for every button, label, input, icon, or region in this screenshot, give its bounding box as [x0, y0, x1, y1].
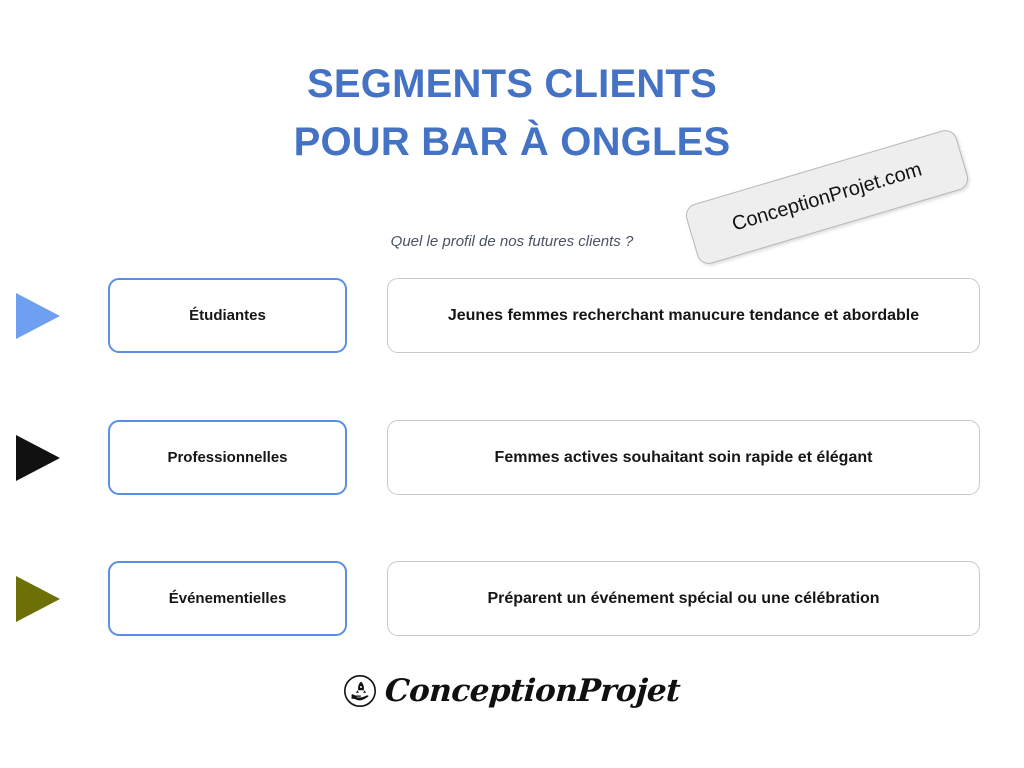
segment-box[interactable]: Étudiantes: [108, 278, 347, 353]
footer-brand-text: ConceptionProjet: [384, 674, 681, 708]
segment-box[interactable]: Professionnelles: [108, 420, 347, 495]
triangle-arrow-olive: [16, 576, 60, 622]
segment-description-label: Préparent un événement spécial ou une cé…: [473, 590, 893, 608]
segment-box[interactable]: Événementielles: [108, 561, 347, 636]
triangle-arrow-black: [16, 435, 60, 481]
subtitle: Quel le profil de nos futures clients ?: [0, 233, 1024, 250]
segment-row: Événementielles Préparent un événement s…: [0, 561, 1024, 637]
page-title-line-1: SEGMENTS CLIENTS: [0, 55, 1024, 113]
segment-label: Événementielles: [161, 590, 295, 607]
triangle-arrow-blue: [16, 293, 60, 339]
segment-description-box[interactable]: Jeunes femmes recherchant manucure tenda…: [387, 278, 980, 353]
segment-description-label: Femmes actives souhaitant soin rapide et…: [481, 449, 887, 467]
hand-holding-rocket-circle-icon: [343, 674, 377, 708]
segment-label: Professionnelles: [159, 449, 295, 466]
segment-description-box[interactable]: Femmes actives souhaitant soin rapide et…: [387, 420, 980, 495]
footer-logo: ConceptionProjet: [0, 674, 1024, 708]
segment-description-label: Jeunes femmes recherchant manucure tenda…: [434, 307, 933, 325]
segment-description-box[interactable]: Préparent un événement spécial ou une cé…: [387, 561, 980, 636]
segment-row: Étudiantes Jeunes femmes recherchant man…: [0, 278, 1024, 354]
segment-row: Professionnelles Femmes actives souhaita…: [0, 420, 1024, 496]
slide-canvas: SEGMENTS CLIENTS POUR BAR À ONGLES Conce…: [0, 0, 1024, 768]
segment-label: Étudiantes: [181, 307, 274, 324]
